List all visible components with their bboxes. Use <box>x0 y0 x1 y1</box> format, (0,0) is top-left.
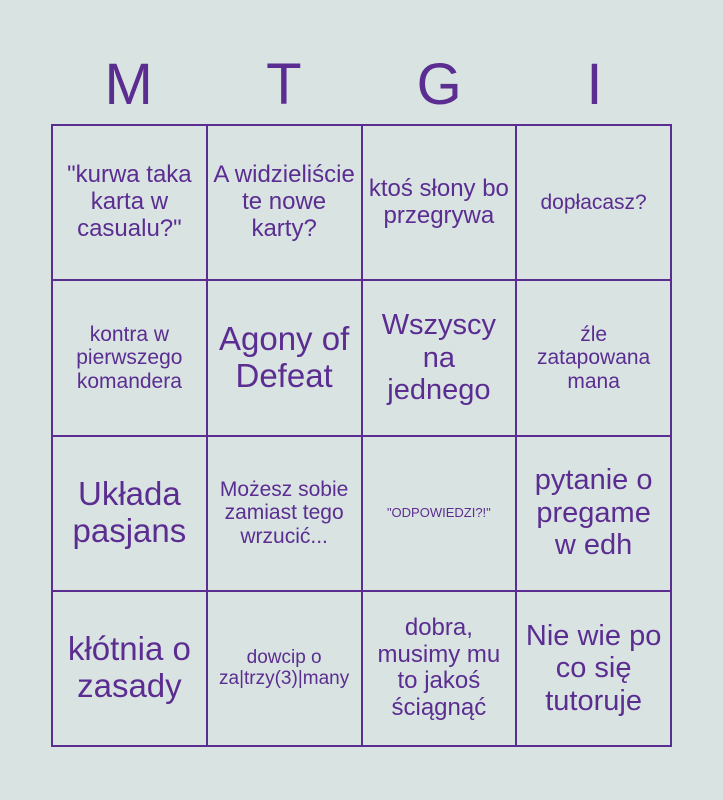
bingo-cell-text: "kurwa taka karta w casualu?" <box>58 162 201 243</box>
bingo-cell[interactable]: Agony of Defeat <box>208 281 363 436</box>
bingo-cell[interactable]: dopłacasz? <box>517 126 672 281</box>
bingo-cell[interactable]: pytanie o pregame w edh <box>517 437 672 592</box>
bingo-cell-text: "ODPOWIEDZI?!" <box>368 506 511 521</box>
bingo-card: M T G I "kurwa taka karta w casualu?" A … <box>0 0 723 800</box>
bingo-cell[interactable]: Nie wie po co się tutoruje <box>517 592 672 747</box>
bingo-cell-text: Wszyscy na jednego <box>368 309 511 406</box>
bingo-cell-text: kłótnia o zasady <box>58 631 201 705</box>
bingo-cell[interactable]: dowcip o za|trzy(3)|many <box>208 592 363 747</box>
bingo-cell-text: ktoś słony bo przegrywa <box>368 176 511 230</box>
bingo-cell-text: A widzieliście te nowe karty? <box>213 162 356 243</box>
bingo-cell[interactable]: A widzieliście te nowe karty? <box>208 126 363 281</box>
bingo-cell[interactable]: kontra w pierwszego komandera <box>53 281 208 436</box>
bingo-cell-text: Agony of Defeat <box>213 321 356 395</box>
bingo-header-letter-2: G <box>362 46 517 124</box>
bingo-cell-text: Możesz sobie zamiast tego wrzucić... <box>213 478 356 549</box>
bingo-cell-text: Nie wie po co się tutoruje <box>522 620 665 717</box>
bingo-header-letter-0: M <box>51 46 206 124</box>
bingo-cell[interactable]: dobra, musimy mu to jakoś ściągnąć <box>363 592 518 747</box>
bingo-cell[interactable]: ktoś słony bo przegrywa <box>363 126 518 281</box>
bingo-header-row: M T G I <box>51 46 672 124</box>
bingo-cell[interactable]: Układa pasjans <box>53 437 208 592</box>
bingo-header-letter-3: I <box>517 46 672 124</box>
bingo-cell-text: źle zatapowana mana <box>522 323 665 394</box>
bingo-cell-text: dobra, musimy mu to jakoś ściągnąć <box>368 615 511 723</box>
bingo-header-letter-1: T <box>206 46 361 124</box>
bingo-grid: "kurwa taka karta w casualu?" A widzieli… <box>51 124 672 747</box>
bingo-cell[interactable]: źle zatapowana mana <box>517 281 672 436</box>
bingo-cell[interactable]: Wszyscy na jednego <box>363 281 518 436</box>
bingo-cell-text: kontra w pierwszego komandera <box>58 323 201 394</box>
bingo-cell-text: pytanie o pregame w edh <box>522 464 665 561</box>
bingo-cell-text: dowcip o za|trzy(3)|many <box>213 647 356 690</box>
bingo-cell[interactable]: Możesz sobie zamiast tego wrzucić... <box>208 437 363 592</box>
bingo-cell[interactable]: kłótnia o zasady <box>53 592 208 747</box>
bingo-cell-text: dopłacasz? <box>522 191 665 215</box>
bingo-cell[interactable]: "ODPOWIEDZI?!" <box>363 437 518 592</box>
bingo-cell-text: Układa pasjans <box>58 476 201 550</box>
bingo-cell[interactable]: "kurwa taka karta w casualu?" <box>53 126 208 281</box>
